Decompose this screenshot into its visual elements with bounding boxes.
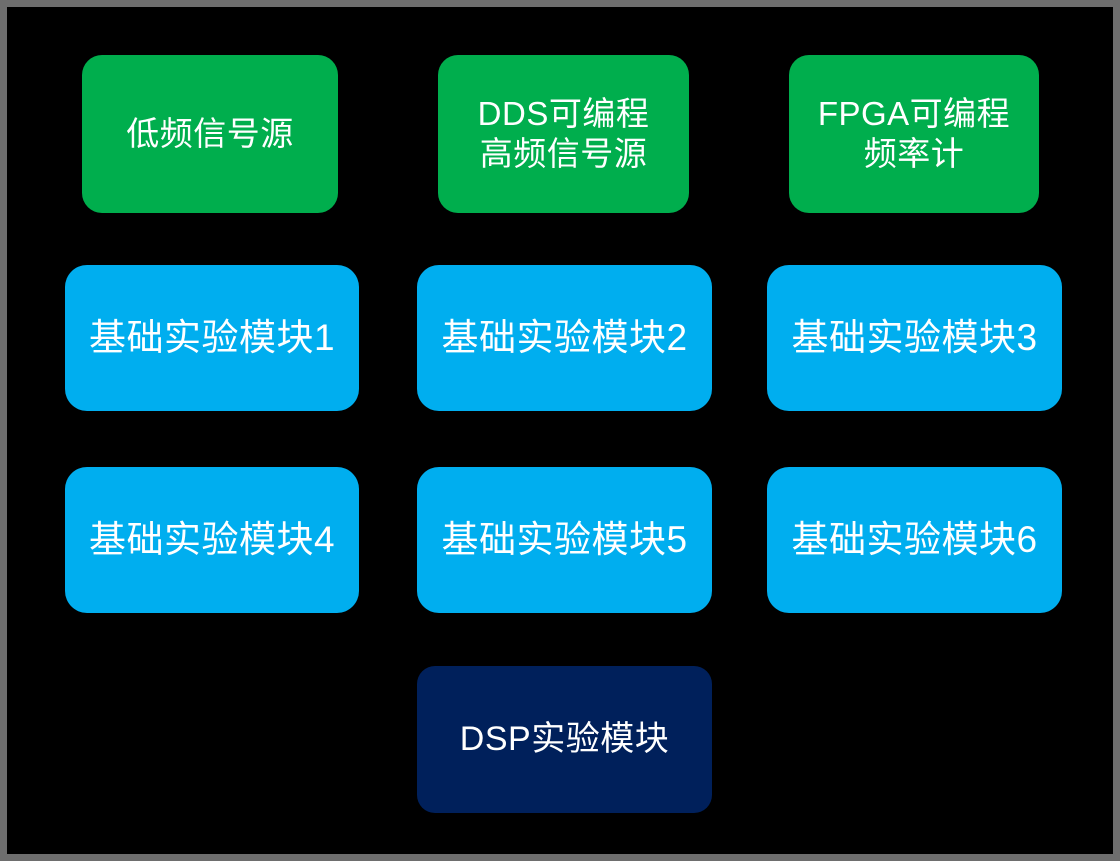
block-label: 基础实验模块5 <box>441 517 687 562</box>
block-low-frequency-signal-source[interactable]: 低频信号源 <box>82 55 338 213</box>
block-label: DSP实验模块 <box>460 719 669 760</box>
block-basic-experiment-module-2[interactable]: 基础实验模块2 <box>417 265 712 411</box>
block-label: 基础实验模块6 <box>791 517 1037 562</box>
block-label: 低频信号源 <box>126 114 294 154</box>
block-basic-experiment-module-4[interactable]: 基础实验模块4 <box>65 467 359 613</box>
block-label: 基础实验模块4 <box>89 517 335 562</box>
block-label: 基础实验模块2 <box>441 315 687 360</box>
block-dsp-experiment-module[interactable]: DSP实验模块 <box>417 666 712 813</box>
block-dds-programmable-high-frequency-signal-source[interactable]: DDS可编程 高频信号源 <box>438 55 689 213</box>
block-label: FPGA可编程 频率计 <box>818 94 1010 175</box>
block-fpga-programmable-frequency-counter[interactable]: FPGA可编程 频率计 <box>789 55 1039 213</box>
block-label: 基础实验模块1 <box>89 315 335 360</box>
diagram-canvas: 低频信号源 DDS可编程 高频信号源 FPGA可编程 频率计 基础实验模块1 基… <box>0 0 1120 861</box>
block-basic-experiment-module-3[interactable]: 基础实验模块3 <box>767 265 1062 411</box>
block-label: 基础实验模块3 <box>791 315 1037 360</box>
block-label: DDS可编程 高频信号源 <box>478 94 650 175</box>
block-basic-experiment-module-5[interactable]: 基础实验模块5 <box>417 467 712 613</box>
block-basic-experiment-module-6[interactable]: 基础实验模块6 <box>767 467 1062 613</box>
block-basic-experiment-module-1[interactable]: 基础实验模块1 <box>65 265 359 411</box>
